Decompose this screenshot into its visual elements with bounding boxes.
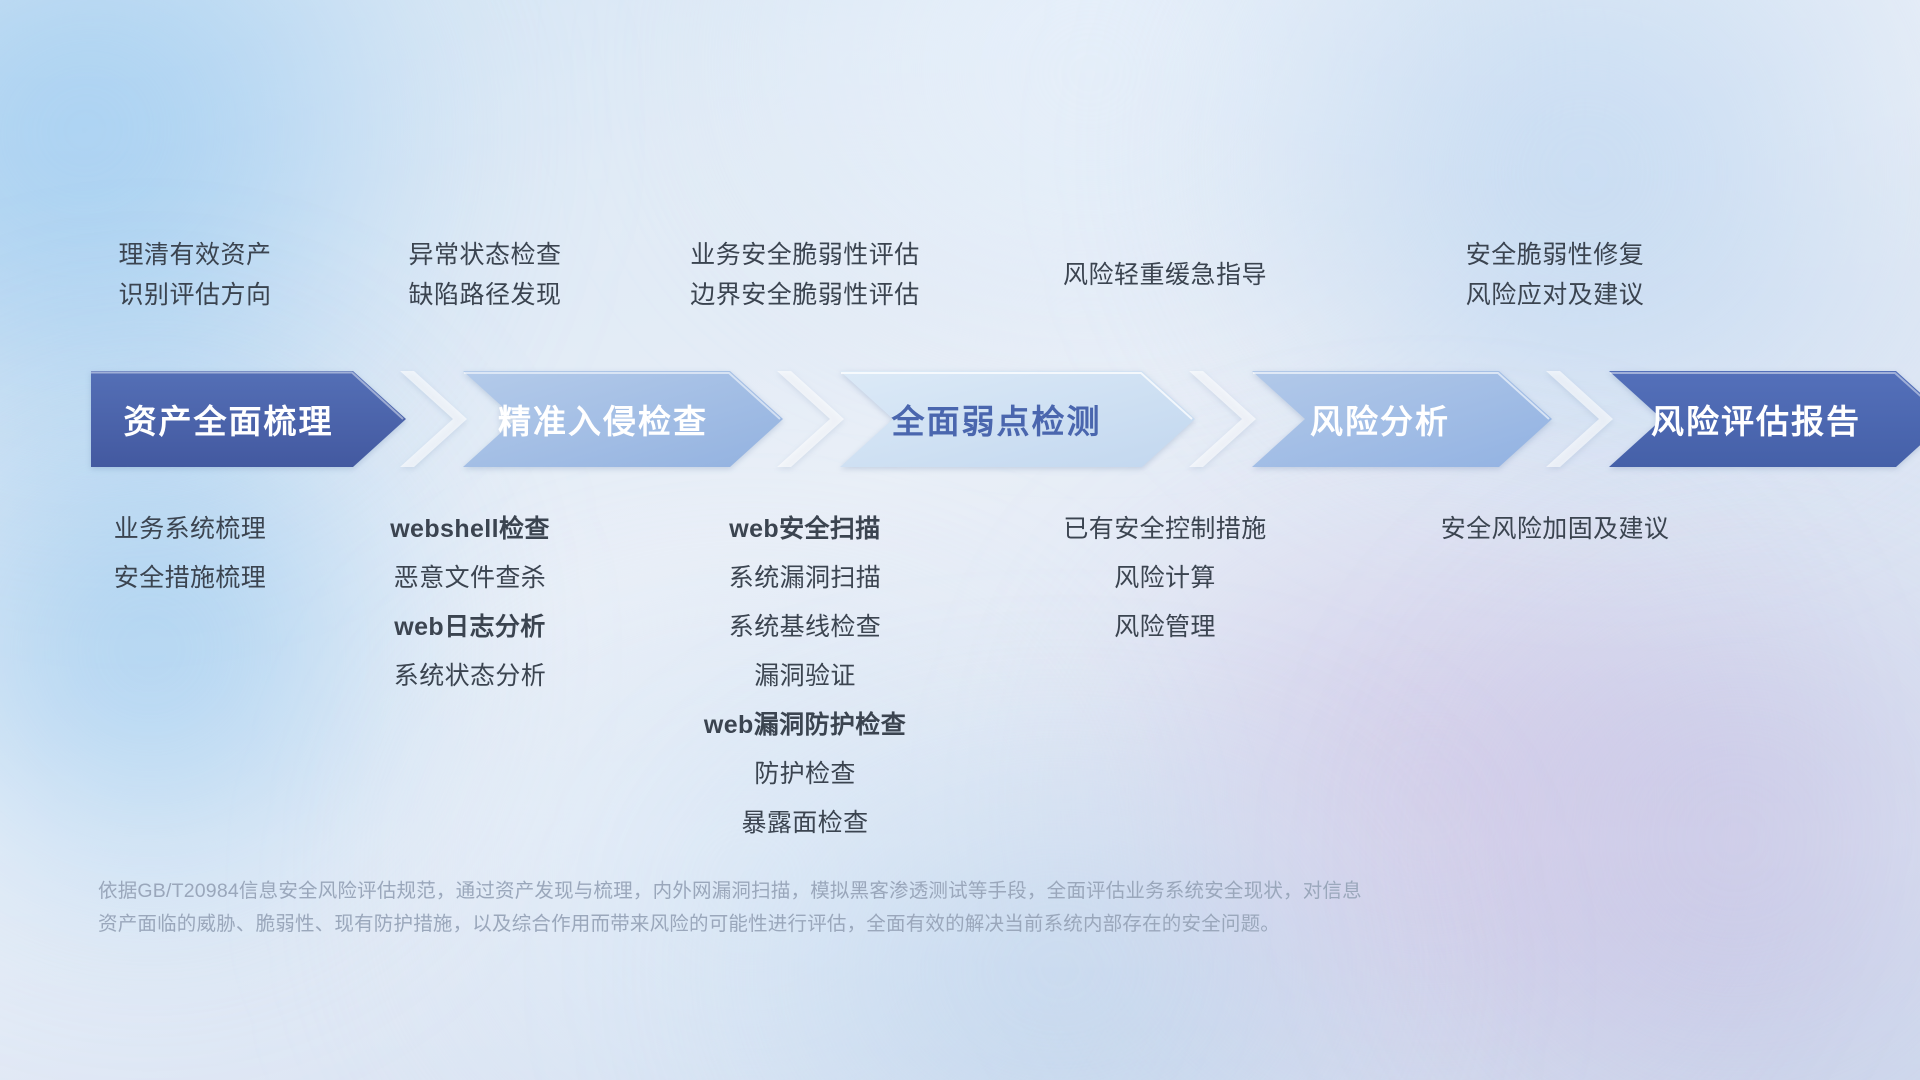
stage-bottom-item: 防护检查	[640, 750, 970, 799]
stage-bottom-items-3: web安全扫描 系统漏洞扫描 系统基线检查 漏洞验证 web漏洞防护检查 防护检…	[640, 505, 970, 848]
stage-top-item: 边界安全脆弱性评估	[620, 275, 990, 315]
stage-chevron-1[interactable]: 资产全面梳理	[91, 371, 406, 467]
stage-bottom-item: 风险管理	[1000, 603, 1330, 652]
stage-chevron-4[interactable]: 风险分析	[1252, 371, 1552, 467]
footer-line: 依据GB/T20984信息安全风险评估规范，通过资产发现与梳理，内外网漏洞扫描，…	[98, 875, 1738, 908]
stage-bottom-item: 系统漏洞扫描	[640, 554, 970, 603]
stage-chevron-3[interactable]: 全面弱点检测	[840, 371, 1195, 467]
stage-bottom-item: 暴露面检查	[640, 799, 970, 848]
process-chevron-band: 资产全面梳理 精准入侵检查	[0, 371, 1920, 467]
stage-bottom-item: 业务系统梳理	[45, 505, 335, 554]
stage-bottom-item: 漏洞验证	[640, 652, 970, 701]
stage-bottom-item: 风险计算	[1000, 554, 1330, 603]
chevron-connector-1	[400, 371, 470, 467]
stage-chevron-2[interactable]: 精准入侵检查	[463, 371, 783, 467]
chevron-connector-4	[1546, 371, 1616, 467]
stage-top-items-1: 理清有效资产 识别评估方向	[30, 235, 360, 315]
stage-bottom-item: 安全风险加固及建议	[1360, 505, 1750, 554]
footer-description: 依据GB/T20984信息安全风险评估规范，通过资产发现与梳理，内外网漏洞扫描，…	[98, 875, 1738, 941]
stage-bottom-item: web漏洞防护检查	[640, 701, 970, 750]
stage-top-item: 安全脆弱性修复	[1385, 235, 1725, 275]
stage-bottom-items-2: webshell检查 恶意文件查杀 web日志分析 系统状态分析	[325, 505, 615, 701]
stage-top-items-2: 异常状态检查 缺陷路径发现	[320, 235, 650, 315]
stage-top-item: 异常状态检查	[320, 235, 650, 275]
stage-bottom-items-1: 业务系统梳理 安全措施梳理	[45, 505, 335, 603]
stage-chevron-label: 风险分析	[1310, 395, 1450, 443]
stage-top-item: 识别评估方向	[30, 275, 360, 315]
stage-top-item: 理清有效资产	[30, 235, 360, 275]
stage-bottom-item: 安全措施梳理	[45, 554, 335, 603]
stage-chevron-label: 风险评估报告	[1651, 395, 1861, 443]
stage-bottom-items-4: 已有安全控制措施 风险计算 风险管理	[1000, 505, 1330, 652]
stage-chevron-5[interactable]: 风险评估报告	[1609, 371, 1920, 467]
stage-bottom-item: web安全扫描	[640, 505, 970, 554]
stage-chevron-label: 全面弱点检测	[892, 395, 1102, 443]
stage-bottom-items-5: 安全风险加固及建议	[1360, 505, 1750, 554]
stage-top-items-4: 风险轻重缓急指导	[1000, 255, 1330, 295]
stage-top-item: 风险应对及建议	[1385, 275, 1725, 315]
stage-bottom-item: 恶意文件查杀	[325, 554, 615, 603]
stage-bottom-item: 已有安全控制措施	[1000, 505, 1330, 554]
chevron-connector-2	[777, 371, 847, 467]
stage-bottom-item: webshell检查	[325, 505, 615, 554]
stage-bottom-item: web日志分析	[325, 603, 615, 652]
stage-bottom-item: 系统状态分析	[325, 652, 615, 701]
stage-top-item: 风险轻重缓急指导	[1000, 255, 1330, 295]
stage-top-items-5: 安全脆弱性修复 风险应对及建议	[1385, 235, 1725, 315]
stage-top-item: 业务安全脆弱性评估	[620, 235, 990, 275]
chevron-connector-3	[1189, 371, 1259, 467]
footer-line: 资产面临的威胁、脆弱性、现有防护措施，以及综合作用而带来风险的可能性进行评估，全…	[98, 908, 1738, 941]
stage-top-items-3: 业务安全脆弱性评估 边界安全脆弱性评估	[620, 235, 990, 315]
stage-chevron-label: 资产全面梳理	[124, 395, 334, 443]
stage-bottom-item: 系统基线检查	[640, 603, 970, 652]
stage-chevron-label: 精准入侵检查	[498, 395, 708, 443]
stage-top-item: 缺陷路径发现	[320, 275, 650, 315]
